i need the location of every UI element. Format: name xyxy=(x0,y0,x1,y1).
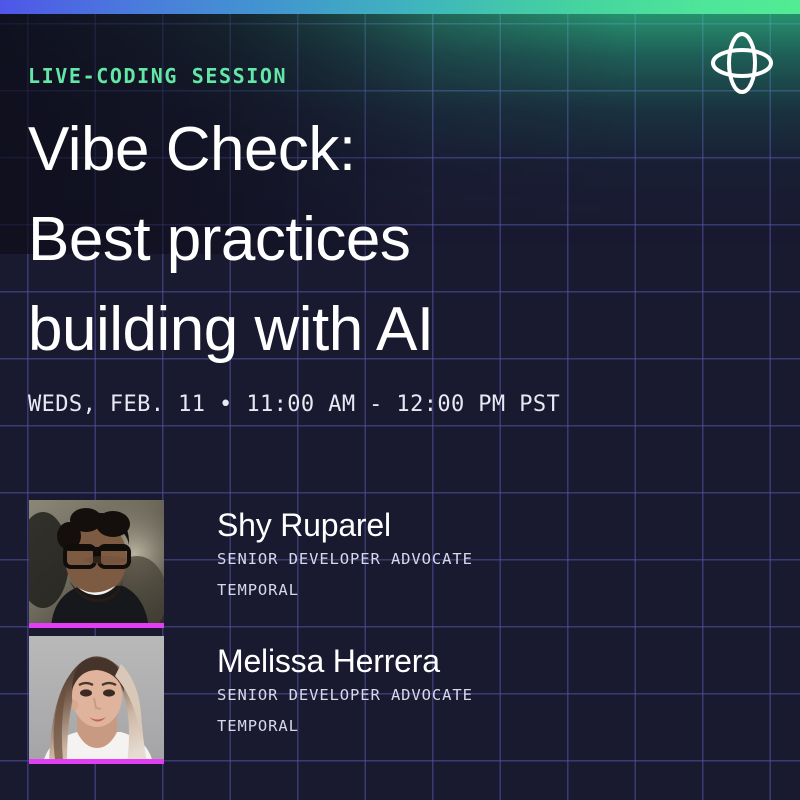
speaker-role: SENIOR DEVELOPER ADVOCATE xyxy=(217,544,473,575)
speaker-photo-melissa-herrera xyxy=(29,636,164,764)
page-title: Vibe Check: Best practices building with… xyxy=(28,105,588,375)
speaker-list: Shy Ruparel SENIOR DEVELOPER ADVOCATE TE… xyxy=(29,500,473,772)
event-datetime: WEDS, FEB. 11 • 11:00 AM - 12:00 PM PST xyxy=(28,392,560,417)
speaker-org: TEMPORAL xyxy=(217,711,473,742)
speaker-name: Shy Ruparel xyxy=(217,506,473,544)
temporal-logo-icon xyxy=(708,29,776,97)
speaker-photo-shy-ruparel xyxy=(29,500,164,628)
event-promo-card: LIVE-CODING SESSION Vibe Check: Best pra… xyxy=(0,0,800,800)
session-kicker-label: LIVE-CODING SESSION xyxy=(28,64,287,88)
speaker-info: Melissa Herrera SENIOR DEVELOPER ADVOCAT… xyxy=(164,636,473,742)
speaker-role: SENIOR DEVELOPER ADVOCATE xyxy=(217,680,473,711)
speaker-item: Shy Ruparel SENIOR DEVELOPER ADVOCATE TE… xyxy=(29,500,473,636)
speaker-info: Shy Ruparel SENIOR DEVELOPER ADVOCATE TE… xyxy=(164,500,473,606)
speaker-org: TEMPORAL xyxy=(217,575,473,606)
speaker-name: Melissa Herrera xyxy=(217,642,473,680)
speaker-item: Melissa Herrera SENIOR DEVELOPER ADVOCAT… xyxy=(29,636,473,772)
